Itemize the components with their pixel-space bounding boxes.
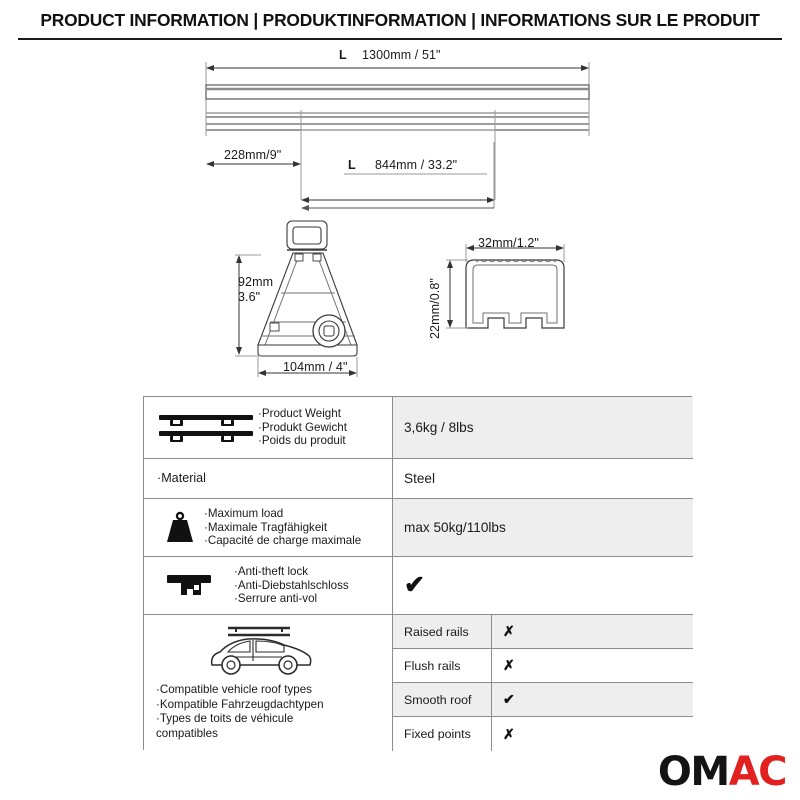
table-row: ·Material Steel (144, 459, 693, 499)
rail-assembly-drawing (0, 0, 800, 400)
row-value-cell: max 50kg/110lbs (393, 499, 693, 556)
omac-logo: OMAC (658, 752, 786, 792)
compat-row: Flush rails ✗ (393, 649, 693, 683)
table-row: ·Maximum load ·Maximale Tragfähigkeit ·C… (144, 499, 693, 557)
row-label-text: ·Material (157, 472, 206, 485)
logo-text-accent: AC (729, 749, 786, 795)
compat-type-label: Flush rails (393, 649, 492, 682)
table-row: ·Anti-theft lock ·Anti-Diebstahlschloss … (144, 557, 693, 615)
row-label-text: ·Maximum load ·Maximale Tragfähigkeit ·C… (204, 507, 361, 547)
profile-height-value: 22mm/0.8" (428, 278, 442, 339)
compat-type-label: Smooth roof (393, 683, 492, 716)
compat-label-cell: ·Compatible vehicle roof types ·Kompatib… (144, 615, 393, 751)
roof-rack-bars-icon (154, 410, 258, 446)
compat-label-text: ·Compatible vehicle roof types ·Kompatib… (156, 683, 324, 741)
specification-table: ·Product Weight ·Produkt Gewicht ·Poids … (143, 396, 692, 750)
table-row: ·Product Weight ·Produkt Gewicht ·Poids … (144, 397, 693, 459)
foot-width-value: 104mm / 4" (283, 360, 348, 374)
profile-width-value: 32mm/1.2" (478, 236, 539, 250)
compat-mark: ✗ (492, 649, 693, 682)
product-information-page: PRODUCT INFORMATION | PRODUKTINFORMATION… (0, 0, 800, 800)
row-label-cell: ·Anti-theft lock ·Anti-Diebstahlschloss … (144, 557, 393, 614)
lock-icon (154, 571, 234, 601)
car-with-roof-rack-icon (200, 621, 320, 679)
compat-row: Raised rails ✗ (393, 615, 693, 649)
compat-type-label: Raised rails (393, 615, 492, 648)
row-label-cell: ·Material (144, 459, 393, 498)
compatibility-subtable: Raised rails ✗ Flush rails ✗ Smooth roof… (393, 615, 693, 751)
row-value-cell: Steel (393, 459, 693, 498)
table-row-compatibility: ·Compatible vehicle roof types ·Kompatib… (144, 615, 693, 751)
compat-mark: ✗ (492, 615, 693, 648)
weight-icon (156, 510, 204, 546)
row-label-text: ·Anti-theft lock ·Anti-Diebstahlschloss … (234, 565, 349, 605)
profile-cross-section-drawing (430, 232, 605, 357)
checkmark-icon: ✔ (404, 573, 425, 598)
compat-type-label: Fixed points (393, 717, 492, 751)
span-length-prefix: L (348, 158, 356, 172)
foot-height-line1: 92mm (238, 275, 273, 289)
compat-mark: ✗ (492, 717, 693, 751)
row-label-text: ·Product Weight ·Produkt Gewicht ·Poids … (258, 407, 347, 447)
foot-height-line2: 3.6" (238, 290, 260, 304)
foot-offset-value: 228mm/9" (224, 148, 281, 162)
row-label-cell: ·Maximum load ·Maximale Tragfähigkeit ·C… (144, 499, 393, 556)
row-value-cell: 3,6kg / 8lbs (393, 397, 693, 458)
logo-text-dark: OM (658, 749, 729, 795)
row-label-cell: ·Product Weight ·Produkt Gewicht ·Poids … (144, 397, 393, 458)
row-value-cell: ✔ (393, 557, 693, 614)
compat-mark: ✔ (492, 683, 693, 716)
compat-row: Smooth roof ✔ (393, 683, 693, 717)
span-length-value: 844mm / 33.2" (375, 158, 457, 172)
compat-row: Fixed points ✗ (393, 717, 693, 751)
